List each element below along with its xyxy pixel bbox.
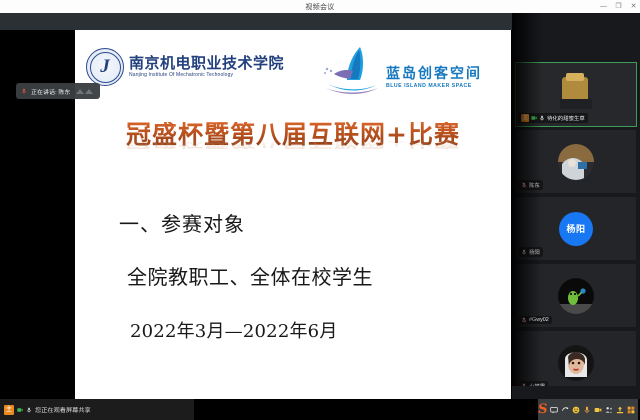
university-logo: J 南京机电职业技术学院 Nanjing Institute Of Mechat… [86,48,284,86]
participant-rail[interactable]: 主 待化的甜蜜生草 [512,13,640,399]
microphone-icon [21,88,27,94]
microphone-muted-icon-2 [521,182,527,188]
microphone-muted-icon-4 [521,317,527,323]
participant-name-3: 杨阳 [529,248,540,256]
video-conference-window: 视频会议 — ❐ ✕ J 南京机电职业技术学院 Nanjing [0,0,640,420]
university-name-en: Nanjing Institute Of Mechatronic Technol… [129,72,284,78]
participant-tile-5[interactable]: 小婷雯 [516,331,636,394]
participant-tile-3[interactable]: 杨阳 杨阳 [516,197,636,260]
participant-name-2: 陈东 [529,181,540,189]
stage-top-strip [0,13,512,30]
university-seal-icon: J [86,48,124,86]
speaking-toast: 正在讲话: 陈东 [16,83,100,99]
video-on-icon [17,407,23,413]
participant-badge-3: 杨阳 [519,247,543,257]
avatar-initials-3: 杨阳 [566,222,585,235]
minimize-icon[interactable]: — [600,3,607,10]
screen-share-notice: 主 您正在观看屏幕共享 [0,399,194,420]
participants-icon[interactable] [605,406,613,414]
participant-name-4: #Gwy02 [529,317,549,323]
makerspace-name-block: 蓝岛创客空间 BLUE ISLAND MAKER SPACE [386,53,482,89]
mic-icon[interactable] [583,406,591,414]
window-title: 视频会议 [305,2,334,12]
shared-screen-stage: J 南京机电职业技术学院 Nanjing Institute Of Mechat… [0,13,512,399]
avatar-4 [558,278,594,314]
participant-name-1: 待化的甜蜜生草 [547,114,585,122]
sogou-logo-icon[interactable]: S [537,403,548,416]
avatar-5 [558,345,594,381]
makerspace-name-en: BLUE ISLAND MAKER SPACE [386,83,482,89]
slide-headline-area: 冠盛杯暨第八届互联网+比赛 冠盛杯暨第八届互联网+比赛 [75,122,511,176]
close-icon[interactable]: ✕ [630,3,637,10]
maximize-icon[interactable]: ❐ [615,3,622,10]
slide-body-line-1: 一、参赛对象 [119,208,511,237]
participant-badge-1: 主 待化的甜蜜生草 [519,113,588,123]
chat-icon[interactable] [550,406,558,414]
speaking-toast-text: 正在讲话: 陈东 [31,87,70,96]
video-icon[interactable] [594,406,602,414]
avatar-3: 杨阳 [559,212,593,246]
slide-body-line-2: 全院教职工、全体在校学生 [127,261,511,290]
participant-tile-2[interactable]: 陈东 [516,130,636,193]
participant-tile-4[interactable]: #Gwy02 [516,264,636,327]
window-titlebar: 视频会议 — ❐ ✕ [0,0,640,14]
video-on-icon-1 [531,115,537,121]
meeting-shell: J 南京机电职业技术学院 Nanjing Institute Of Mechat… [0,13,640,399]
emoji-icon[interactable] [572,406,580,414]
presentation-slide: J 南京机电职业技术学院 Nanjing Institute Of Mechat… [75,30,511,399]
avatar-2 [558,144,594,180]
speaking-level-icon [76,89,93,94]
seal-glyph: J [87,49,123,85]
rail-bottom-filler [512,386,640,399]
university-name-block: 南京机电职业技术学院 Nanjing Institute Of Mechatro… [129,56,284,79]
sailboat-icon [320,44,382,98]
slide-body-line-3: 2022年3月—2022年6月 [130,317,511,343]
meeting-toolbar[interactable]: S [538,399,638,420]
share-host-label: 主 [4,405,14,415]
microphone-icon-1 [539,115,545,121]
screen-share-text: 您正在观看屏幕共享 [35,405,91,414]
microphone-icon-share [26,407,32,413]
slide-headline-reflection: 冠盛杯暨第八届互联网+比赛 [75,136,511,150]
slide-body: 一、参赛对象 全院教职工、全体在校学生 2022年3月—2022年6月 [75,208,511,343]
share-icon[interactable] [616,406,624,414]
voice-icon[interactable] [561,406,569,414]
host-label-1: 主 [521,114,529,122]
participant-tile-1[interactable]: 主 待化的甜蜜生草 [516,63,636,126]
participant-badge-4: #Gwy02 [519,316,552,324]
slide-logos: J 南京机电职业技术学院 Nanjing Institute Of Mechat… [75,44,511,106]
university-name-cn: 南京机电职业技术学院 [129,56,284,72]
makerspace-logo: 蓝岛创客空间 BLUE ISLAND MAKER SPACE [320,44,482,98]
bottom-bar: 主 您正在观看屏幕共享 S [0,399,640,420]
makerspace-name-cn: 蓝岛创客空间 [386,67,482,82]
more-icon[interactable] [627,406,635,414]
window-controls: — ❐ ✕ [600,0,637,13]
participant-badge-2: 陈东 [519,180,543,190]
microphone-icon-3 [521,249,527,255]
